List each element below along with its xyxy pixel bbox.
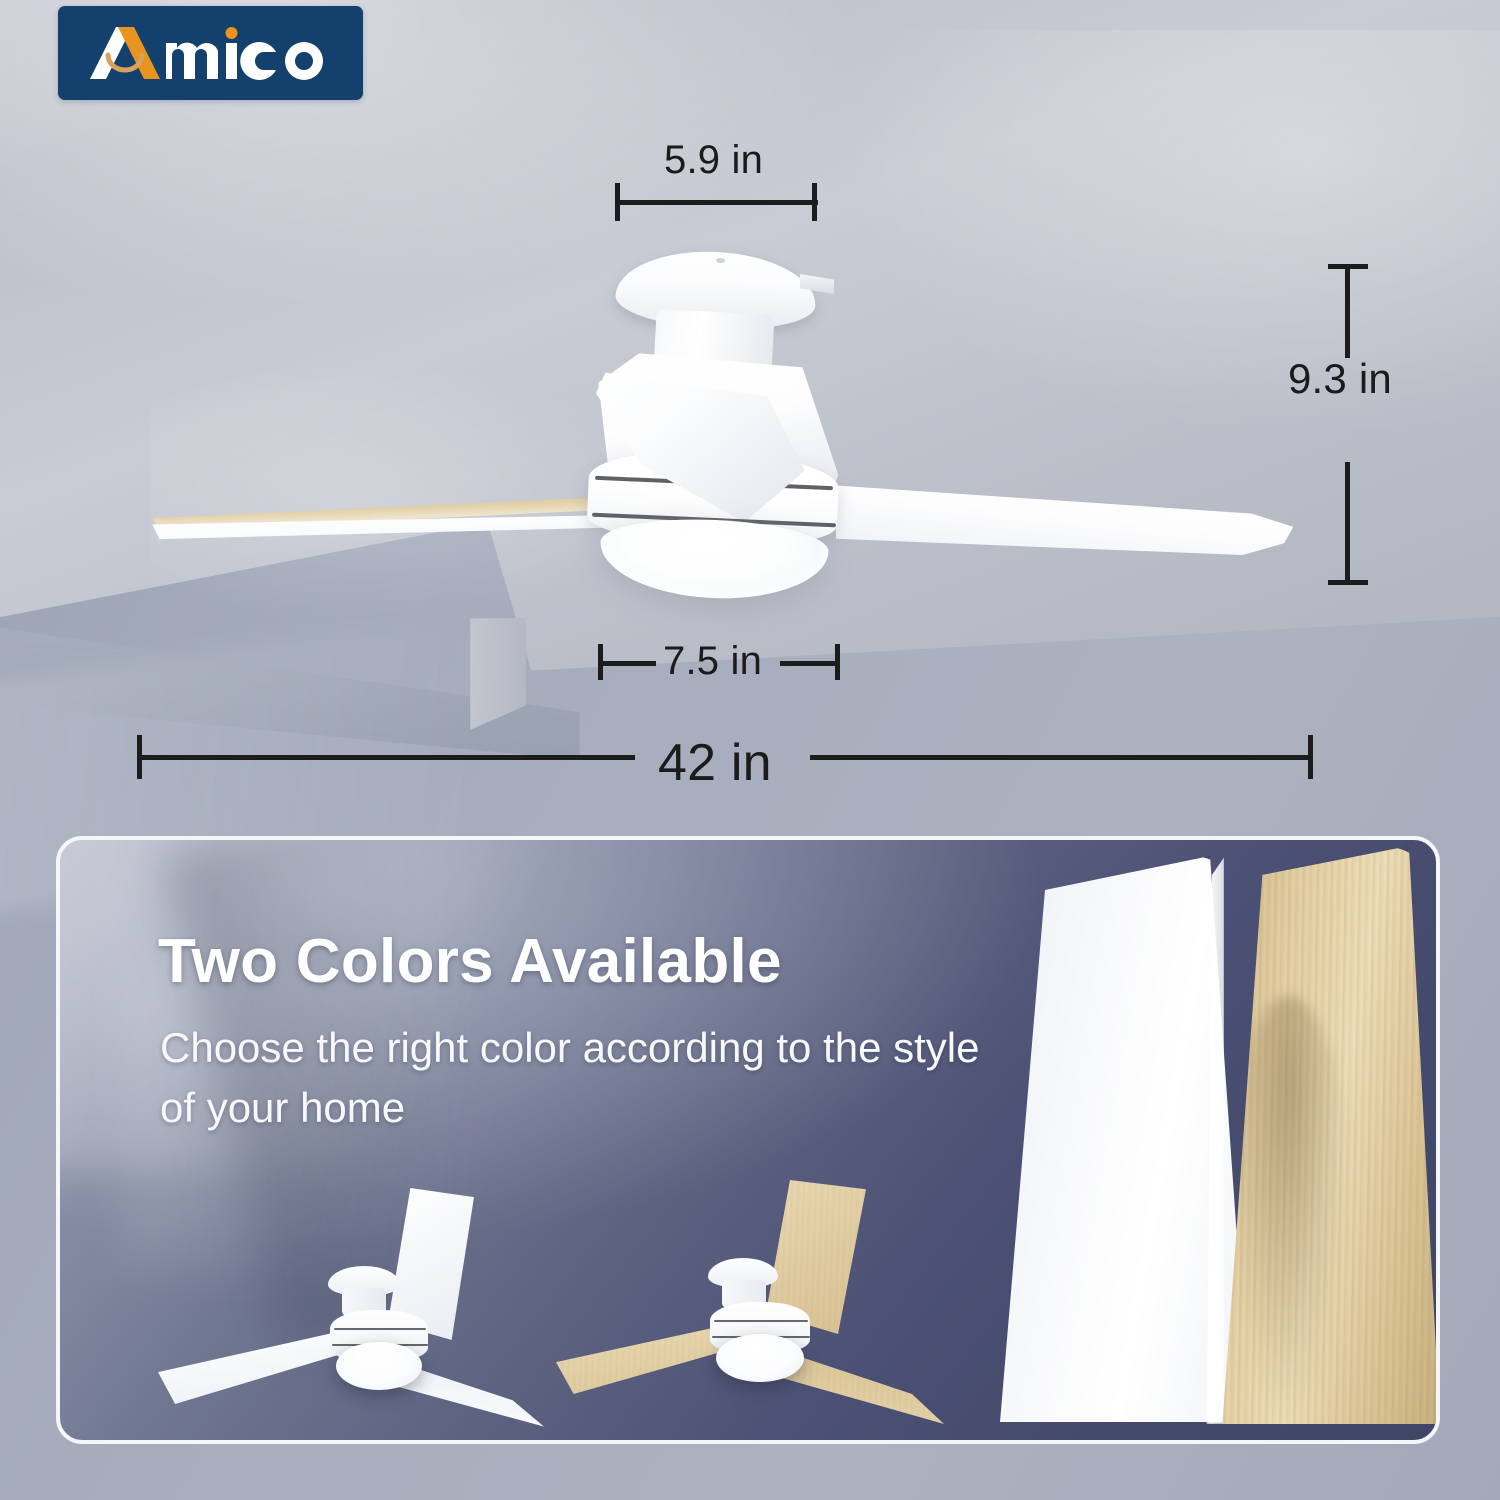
dimension-cap-right-canopy-width	[812, 183, 817, 221]
blade-swatch-wood-shadow	[1227, 996, 1351, 1424]
thumb-wood-band-upper	[714, 1320, 808, 1322]
dimension-label-blade-span: 42 in	[658, 733, 772, 793]
dimension-label-canopy-width: 5.9 in	[664, 138, 763, 183]
dimension-line-bottom-total-height	[1345, 462, 1350, 584]
brand-logo	[58, 6, 363, 100]
dimension-line-left-housing-width	[600, 661, 656, 666]
dimension-cap-bottom-total-height	[1328, 580, 1368, 585]
thumb-white-led	[336, 1342, 422, 1390]
amico-chevron-logo	[86, 21, 336, 85]
blade-swatch-wood[interactable]	[1218, 846, 1440, 1424]
thumb-white-band-upper	[334, 1328, 426, 1330]
dimension-label-housing-width: 7.5 in	[663, 639, 762, 684]
fan-blade-right	[836, 484, 1298, 558]
dimension-line-right-blade-span	[810, 755, 1313, 760]
dimension-cap-right-housing-width	[835, 644, 840, 680]
dimension-line-top-total-height	[1345, 266, 1350, 358]
dimension-label-total-height: 9.3 in	[1288, 355, 1392, 403]
dimension-line-left-blade-span	[140, 755, 635, 760]
fan-thumbnail-wood[interactable]	[616, 1166, 1036, 1432]
panel-title: Two Colors Available	[158, 926, 782, 997]
dimension-cap-left-canopy-width	[615, 183, 620, 221]
fan-thumbnail-white[interactable]	[152, 1170, 572, 1432]
dimension-cap-right-blade-span	[1308, 735, 1313, 779]
infographic-canvas: 5.9 in 9.3 in 7.5 in 42 in	[0, 0, 1500, 1500]
two-colors-panel: Two Colors Available Choose the right co…	[56, 836, 1440, 1444]
panel-subtitle: Choose the right color according to the …	[160, 1018, 990, 1137]
dimension-line-right-housing-width	[780, 661, 838, 666]
dimension-cap-top-total-height	[1328, 264, 1368, 269]
dimension-line-canopy-width	[618, 200, 818, 205]
fan-canopy-screw	[716, 258, 725, 263]
thumb-wood-led	[716, 1334, 804, 1382]
